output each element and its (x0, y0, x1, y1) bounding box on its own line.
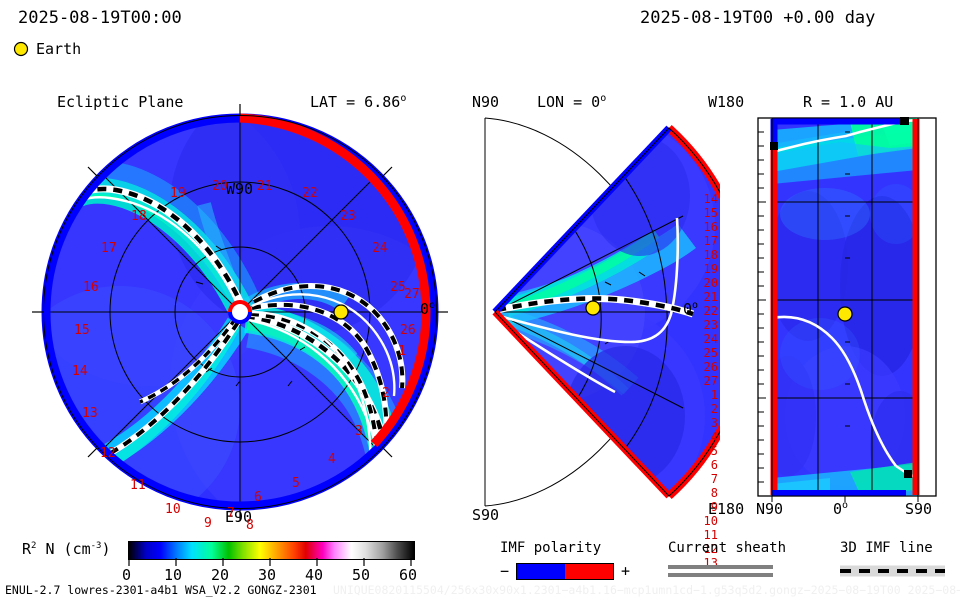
map-row-num-22: 22 (704, 304, 718, 318)
colorbar-label-close: ) (101, 540, 110, 558)
earth-icon (13, 41, 29, 57)
map-row-num-10: 10 (704, 514, 718, 528)
legend-imf-polarity: IMF polarity − + (500, 540, 630, 580)
panel-ecliptic-top-label: W90 (226, 180, 253, 198)
earth-marker-ecliptic (334, 305, 348, 319)
legend-minus-sign: − (500, 562, 509, 580)
panel-ecliptic-lat: LAT = 6.86o (310, 93, 406, 111)
map-row-num-4: 4 (711, 430, 718, 444)
rim-num-15: 15 (74, 323, 90, 338)
colorbar-label-unit-exp: -3 (91, 541, 102, 551)
lat-degree-symbol: o (400, 93, 406, 104)
rim-num-1: 1 (398, 344, 406, 359)
map-row-num-2: 2 (711, 402, 718, 416)
map-row-num-3: 3 (711, 416, 718, 430)
meridional-title-degree: o (600, 93, 606, 104)
rim-num-21: 21 (257, 179, 273, 194)
rim-num-10: 10 (165, 502, 181, 517)
map-xtick-s90: S90 (905, 500, 932, 518)
meridional-right-value: 0 (683, 300, 692, 318)
legend-3d-imf-line-title: 3D IMF line (840, 540, 945, 556)
map-xtick-n90: N90 (756, 500, 783, 518)
earth-legend: Earth (13, 40, 81, 58)
rim-num-16: 16 (83, 280, 99, 295)
panel-meridional: N90 LON = 0o S90 0o (455, 86, 720, 526)
earth-marker-map (838, 307, 852, 321)
rim-num-11: 11 (130, 478, 146, 493)
map-row-num-15: 15 (704, 206, 718, 220)
rim-num-14: 14 (72, 364, 88, 379)
rim-num-22: 22 (302, 186, 318, 201)
rim-num-17: 17 (101, 241, 117, 256)
map-row-num-14: 14 (704, 192, 718, 206)
legend-current-sheath: Current sheath (668, 540, 786, 580)
map-row-num-21: 21 (704, 290, 718, 304)
map-xtick-zero-value: 0 (833, 500, 842, 518)
map-row-num-23: 23 (704, 318, 718, 332)
header-right-timestamp: 2025-08-19T00 +0.00 day (640, 8, 875, 28)
colorbar-tick-20: 20 (211, 566, 229, 584)
ecliptic-plot (0, 86, 460, 526)
rim-num-2: 2 (382, 386, 390, 401)
panel-ecliptic: Ecliptic Plane LAT = 6.86o W90 E90 0o (0, 86, 460, 526)
rim-num-7: 7 (227, 506, 235, 521)
rim-num-18: 18 (131, 209, 147, 224)
rim-num-27: 27 (404, 287, 420, 302)
map-row-num-27: 27 (704, 374, 718, 388)
earth-legend-label: Earth (36, 40, 81, 58)
map-row-num-26: 26 (704, 360, 718, 374)
footer-watermark: UNIQUE0820115504/256x30x90x1.2301−a4b1.1… (333, 583, 960, 597)
map-plot (700, 86, 960, 526)
header-left-timestamp: 2025-08-19T00:00 (18, 8, 182, 28)
right-label-degree: o (429, 300, 435, 311)
colorbar-tick-50: 50 (352, 566, 370, 584)
panel-meridional-bottom-label: S90 (472, 506, 499, 524)
meridional-title-value: LON = 0 (537, 93, 600, 111)
map-xtick-degree: o (842, 500, 848, 511)
colorbar-group: R2 N (cm-3) 0 10 20 30 40 50 60 (0, 535, 440, 585)
rim-num-5: 5 (292, 476, 300, 491)
footer-credit: ENUL-2.7 lowres-2301-a4b1 WSA_V2.2 GONGZ… (5, 583, 317, 597)
map-row-num-20: 20 (704, 276, 718, 290)
legend-3d-imf-line-swatch (840, 564, 945, 580)
map-row-num-17: 17 (704, 234, 718, 248)
rim-num-13: 13 (82, 406, 98, 421)
rim-num-19: 19 (170, 186, 186, 201)
colorbar-label: R2 N (cm-3) (22, 540, 111, 558)
map-row-num-8: 8 (711, 486, 718, 500)
map-row-num-9: 9 (711, 500, 718, 514)
panel-meridional-top-label: N90 (472, 93, 499, 111)
map-row-num-1: 1 (711, 388, 718, 402)
meridional-plot (455, 86, 720, 526)
legend-plus-sign: + (621, 562, 630, 580)
rim-num-12: 12 (100, 446, 116, 461)
map-row-num-6: 6 (711, 458, 718, 472)
rim-num-8: 8 (246, 518, 254, 533)
colorbar-label-rest: N (cm (36, 540, 90, 558)
panel-meridional-title: LON = 0o (537, 93, 606, 111)
panel-ecliptic-right-label: 0o (420, 300, 435, 318)
rim-num-24: 24 (372, 241, 388, 256)
panel-meridional-right-label: 0o (683, 300, 698, 318)
legend-current-sheath-title: Current sheath (668, 540, 786, 556)
sun-marker (228, 300, 252, 324)
map-row-num-5: 5 (711, 444, 718, 458)
panel-map-topleft-label: W180 (708, 93, 744, 111)
rim-num-23: 23 (340, 209, 356, 224)
map-row-num-25: 25 (704, 346, 718, 360)
rim-num-4: 4 (328, 452, 336, 467)
rim-num-9: 9 (204, 516, 212, 531)
map-row-num-18: 18 (704, 248, 718, 262)
panel-map: W180 R = 1.0 AU E180 (700, 86, 960, 526)
colorbar-tick-0: 0 (122, 566, 131, 584)
colorbar-tick-40: 40 (305, 566, 323, 584)
rim-num-20: 20 (212, 179, 228, 194)
map-row-num-19: 19 (704, 262, 718, 276)
rim-num-26: 26 (400, 323, 416, 338)
earth-marker-meridional (586, 301, 600, 315)
colorbar-tick-10: 10 (164, 566, 182, 584)
right-label-value: 0 (420, 300, 429, 318)
colorbar-label-r: R (22, 540, 31, 558)
legend-polarity-bar (516, 563, 614, 580)
legend-imf-polarity-title: IMF polarity (500, 540, 630, 556)
colorbar-tick-60: 60 (399, 566, 417, 584)
lat-value: LAT = 6.86 (310, 93, 400, 111)
map-xtick-zero: 0o (833, 500, 848, 518)
map-row-num-7: 7 (711, 472, 718, 486)
colorbar-tick-30: 30 (258, 566, 276, 584)
rim-num-3: 3 (355, 424, 363, 439)
rim-num-6: 6 (254, 490, 262, 505)
panel-map-title: R = 1.0 AU (803, 93, 893, 111)
panel-ecliptic-title: Ecliptic Plane (57, 93, 183, 111)
legend-3d-imf-line: 3D IMF line (840, 540, 945, 580)
map-row-num-24: 24 (704, 332, 718, 346)
legend-current-sheath-swatch (668, 564, 773, 580)
map-row-num-16: 16 (704, 220, 718, 234)
meridional-right-degree: o (692, 300, 698, 311)
